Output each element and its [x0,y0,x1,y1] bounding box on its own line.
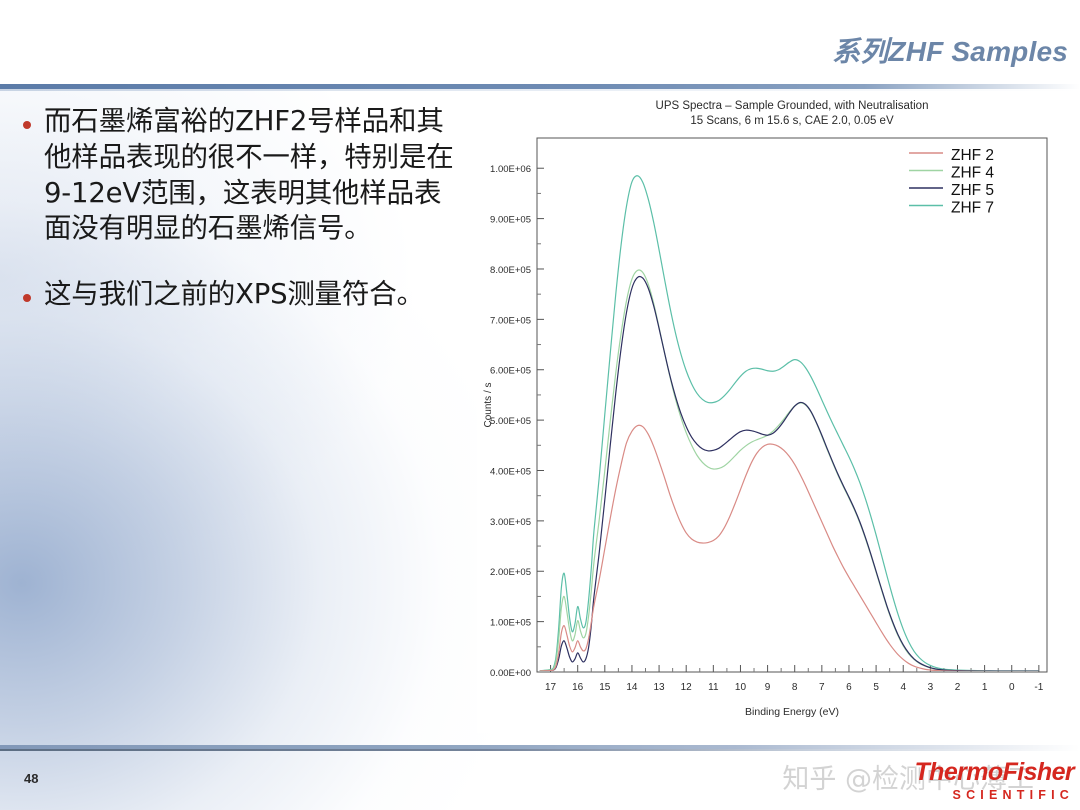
chart-canvas: UPS Spectra – Sample Grounded, with Neut… [477,93,1072,733]
bullet-text: 而石墨烯富裕的ZHF2号样品和其他样品表现的很不一样，特别是在9-12eV范围，… [44,104,465,247]
y-axis-tick-label: 5.00E+05 [490,416,531,427]
brand-logo: ThermoFisher SCIENTIFIC [915,760,1075,802]
x-axis-tick-label: 1 [982,682,988,693]
y-axis-label: Counts / s [483,382,494,427]
list-item: 而石墨烯富裕的ZHF2号样品和其他样品表现的很不一样，特别是在9-12eV范围，… [10,104,465,247]
brand-name: ThermoFisher [915,760,1075,785]
legend-label: ZHF 5 [951,182,994,199]
plot-frame [537,138,1047,672]
y-axis-tick-label: 8.00E+05 [490,265,531,276]
x-axis-tick-label: 4 [900,682,906,693]
y-axis-tick-label: 3.00E+05 [490,517,531,528]
legend-label: ZHF 2 [951,147,994,164]
x-axis-tick-label: 14 [626,682,638,693]
y-axis-tick-label: 1.00E+06 [490,164,531,175]
brand-subtitle: SCIENTIFIC [915,789,1075,802]
x-axis-tick-label: 5 [873,682,879,693]
x-axis-label: Binding Energy (eV) [745,706,839,718]
page-number: 48 [24,771,38,786]
x-axis-tick-label: 0 [1009,682,1015,693]
x-axis-tick-label: 7 [819,682,825,693]
x-axis-tick-label: 15 [599,682,611,693]
x-axis-tick-label: 16 [572,682,584,693]
x-axis-tick-label: 17 [545,682,557,693]
bullet-dot-icon [23,121,31,129]
footer-divider-shadow [0,749,1080,751]
y-axis-tick-label: 6.00E+05 [490,366,531,377]
x-axis-tick-label: 8 [792,682,798,693]
y-axis-tick-label: 9.00E+05 [490,215,531,226]
x-axis-tick-label: 9 [765,682,771,693]
x-axis-tick-label: -1 [1034,682,1043,693]
legend-label: ZHF 4 [951,165,994,182]
chart-title: UPS Spectra – Sample Grounded, with Neut… [656,100,929,112]
page-title: 系列ZHF Samples [832,30,1068,70]
x-axis-tick-label: 2 [955,682,961,693]
y-axis-tick-label: 7.00E+05 [490,315,531,326]
header-divider-soft [0,89,1080,91]
y-axis-tick-label: 2.00E+05 [490,567,531,578]
y-axis-tick-label: 0.00E+00 [490,668,531,679]
y-axis-tick-label: 4.00E+05 [490,466,531,477]
y-axis-tick-label: 1.00E+05 [490,618,531,629]
bullet-text: 这与我们之前的XPS测量符合。 [44,277,465,313]
x-axis-tick-label: 13 [654,682,666,693]
legend-label: ZHF 7 [951,200,994,217]
chart-subtitle: 15 Scans, 6 m 15.6 s, CAE 2.0, 0.05 eV [690,115,894,127]
x-axis-tick-label: 12 [681,682,693,693]
x-axis-tick-label: 3 [928,682,934,693]
ups-spectra-chart: UPS Spectra – Sample Grounded, with Neut… [477,93,1072,733]
x-axis-tick-label: 10 [735,682,747,693]
x-axis-tick-label: 6 [846,682,852,693]
slide: 系列ZHF Samples 而石墨烯富裕的ZHF2号样品和其他样品表现的很不一样… [0,0,1080,810]
bullet-list: 而石墨烯富裕的ZHF2号样品和其他样品表现的很不一样，特别是在9-12eV范围，… [10,104,465,343]
list-item: 这与我们之前的XPS测量符合。 [10,277,465,313]
x-axis-tick-label: 11 [708,682,719,693]
bullet-dot-icon [23,294,31,302]
